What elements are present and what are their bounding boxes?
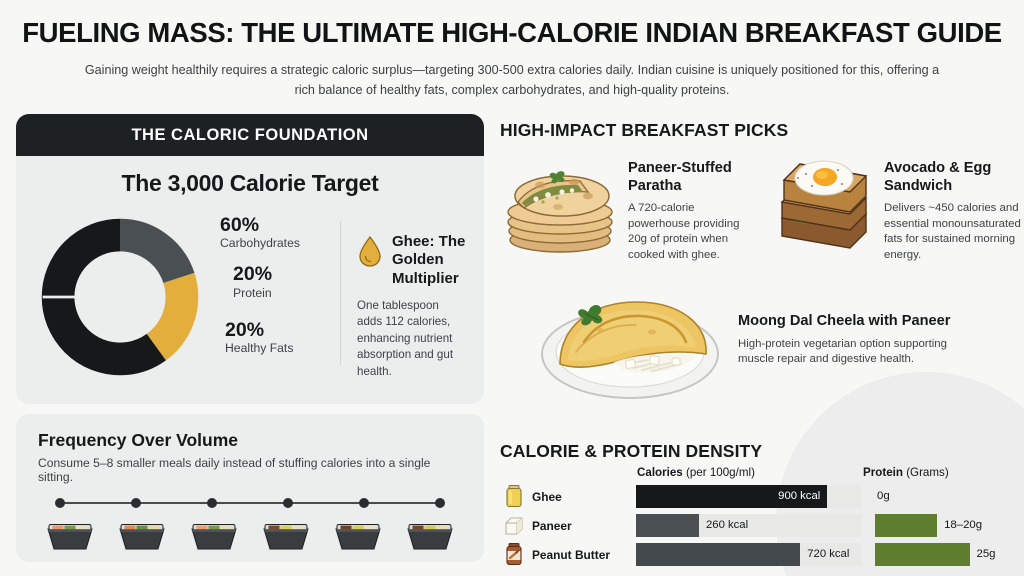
section-title-density: CALORIE & PROTEIN DENSITY [500,441,762,462]
timeline-dot [359,498,369,508]
macro-donut-chart [34,211,206,383]
meal-container-icon [40,516,100,552]
legend-item-carbohydrates: 60% Carbohydrates [220,215,336,250]
paratha-stack-icon [500,152,620,254]
timeline-dot [131,498,141,508]
droplet-icon [357,235,383,268]
protein-axis-label: Protein (Grams) [863,466,949,479]
frequency-subtitle: Consume 5–8 smaller meals daily instead … [38,456,462,484]
protein-bar-peanut-butter [875,543,970,566]
density-axis-headers: Calories (per 100g/ml) Protein (Grams) [500,466,1010,483]
hero-header: FUELING MASS: THE ULTIMATE HIGH-CALORIE … [0,0,1024,100]
macro-legend: 60% Carbohydrates 20% Protein 20% Health… [206,211,336,383]
pick-text-cheela: Moong Dal Cheela with Paneer High-protei… [738,313,968,368]
meal-timeline [38,498,462,508]
calories-axis-label-bold: Calories [637,466,683,479]
calorie-value-ghee: 900 kcal [778,485,820,508]
density-row-ghee: Ghee 900 kcal 0g [500,483,1010,510]
macro-breakdown-row: 60% Carbohydrates 20% Protein 20% Health… [34,211,466,383]
meal-container-icon [400,516,460,552]
ghee-callout: Ghee: The Golden Multiplier One tablespo… [341,211,466,383]
calorie-track-ghee: 900 kcal [636,485,861,508]
caloric-foundation-panel: THE CALORIC FOUNDATION The 3,000 Calorie… [16,114,484,404]
pick-description-sandwich: Delivers ~450 calories and essential mon… [884,201,1024,264]
timeline-dot [435,498,445,508]
page-title: FUELING MASS: THE ULTIMATE HIGH-CALORIE … [0,17,1024,49]
pick-description-paratha: A 720-calorie powerhouse providing 20g o… [628,201,748,264]
calorie-bar-paneer [636,514,699,537]
panel-header-caloric: THE CALORIC FOUNDATION [16,114,484,156]
ghee-callout-title: Ghee: The Golden Multiplier [392,233,466,288]
legend-label-healthy-fats: Healthy Fats [225,341,336,355]
paneer-cube-icon [503,515,525,537]
meal-container-icon [184,516,244,552]
peanut-butter-jar-icon [504,542,524,567]
donut-svg [34,211,206,383]
protein-area-ghee: 0g [875,485,1010,508]
protein-axis-label-bold: Protein [863,466,903,479]
pick-text-sandwich: Avocado & Egg Sandwich Delivers ~450 cal… [884,160,1024,264]
calorie-value-paneer: 260 kcal [706,514,748,537]
density-label-peanut-butter: Peanut Butter [528,548,636,562]
density-icon-cell [500,515,528,537]
pick-name-paratha: Paneer-Stuffed Paratha [628,160,748,195]
density-chart: Calories (per 100g/ml) Protein (Grams) G… [500,466,1010,570]
density-label-ghee: Ghee [528,490,636,504]
legend-label-protein: Protein [233,286,336,300]
caloric-panel-body: The 3,000 Calorie Target [16,156,484,383]
calorie-value-peanut-butter: 720 kcal [807,543,849,566]
legend-value-carbohydrates: 60% [220,215,336,235]
calories-axis-label: Calories (per 100g/ml) [637,466,755,479]
protein-value-paneer: 18–20g [944,514,982,537]
legend-value-protein: 20% [233,264,336,284]
ghee-callout-description: One tablespoon adds 112 calories, enhanc… [357,298,466,380]
protein-area-peanut-butter: 25g [875,543,1010,566]
legend-value-healthy-fats: 20% [225,320,336,340]
density-row-paneer: Paneer 260 kcal 18–20g [500,512,1010,539]
timeline-dot [207,498,217,508]
ghee-jar-icon [504,484,524,509]
page-subtitle: Gaining weight healthily requires a stra… [82,61,942,100]
protein-axis-label-note: (Grams) [906,466,949,479]
infographic-page: FUELING MASS: THE ULTIMATE HIGH-CALORIE … [0,0,1024,576]
frequency-title: Frequency Over Volume [38,430,462,451]
meal-container-icon [328,516,388,552]
meal-container-icon [256,516,316,552]
pick-name-sandwich: Avocado & Egg Sandwich [884,160,1024,195]
calorie-target-title: The 3,000 Calorie Target [34,170,466,197]
density-label-paneer: Paneer [528,519,636,533]
cheela-plate-icon [530,280,740,408]
timeline-dot [55,498,65,508]
timeline-dot [283,498,293,508]
calorie-track-peanut-butter: 720 kcal [636,543,861,566]
avocado-egg-sandwich-icon [772,152,876,254]
protein-value-peanut-butter: 25g [977,543,996,566]
density-icon-cell [500,484,528,509]
protein-bar-paneer [875,514,937,537]
protein-value-ghee: 0g [877,485,890,508]
protein-area-paneer: 18–20g [875,514,1010,537]
pick-description-cheela: High-protein vegetarian option supportin… [738,337,968,368]
calorie-bar-peanut-butter [636,543,800,566]
legend-item-protein: 20% Protein [233,264,336,299]
frequency-panel: Frequency Over Volume Consume 5–8 smalle… [16,414,484,562]
density-icon-cell [500,542,528,567]
ghee-callout-header: Ghee: The Golden Multiplier [357,233,466,288]
calorie-track-paneer: 260 kcal [636,514,861,537]
meal-container-list [38,516,462,552]
section-title-picks: HIGH-IMPACT BREAKFAST PICKS [500,120,788,141]
timeline-dots [38,498,462,508]
meal-container-icon [112,516,172,552]
pick-name-cheela: Moong Dal Cheela with Paneer [738,313,968,331]
density-row-peanut-butter: Peanut Butter 720 kcal 25g [500,541,1010,568]
calories-axis-label-note: (per 100g/ml) [686,466,755,479]
legend-item-healthy-fats: 20% Healthy Fats [225,320,336,355]
legend-label-carbohydrates: Carbohydrates [220,236,336,250]
pick-text-paratha: Paneer-Stuffed Paratha A 720-calorie pow… [628,160,748,264]
